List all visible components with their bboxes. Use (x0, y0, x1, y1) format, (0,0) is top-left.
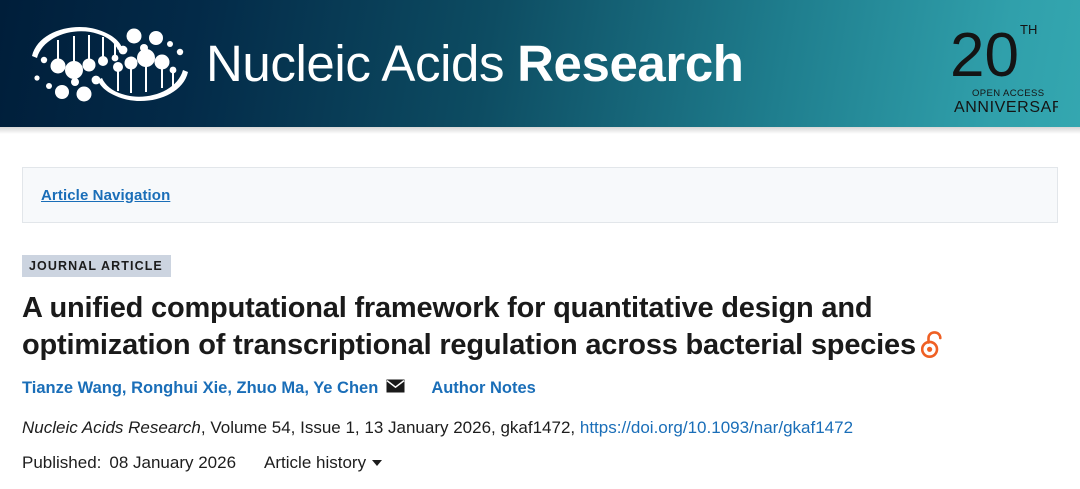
dna-helix-logo[interactable] (22, 14, 198, 114)
article-history-toggle[interactable]: Article history (264, 453, 382, 473)
citation-line: Nucleic Acids Research, Volume 54, Issue… (22, 418, 1058, 438)
doi-link[interactable]: https://doi.org/10.1093/nar/gkaf1472 (580, 418, 853, 437)
page-title: A unified computational framework for qu… (22, 290, 1032, 368)
journal-masthead: Nucleic Acids Research 20 TH OPEN ACCESS… (0, 0, 1080, 127)
anniversary-line2: ANNIVERSARY (954, 99, 1058, 116)
anniversary-ordinal: TH (1020, 22, 1037, 37)
article-navigation-link[interactable]: Article Navigation (41, 187, 170, 204)
published-line: Published: 08 January 2026 Article histo… (22, 453, 1058, 473)
article-page: Article Navigation JOURNAL ARTICLE A uni… (0, 167, 1080, 473)
authors-line: Tianze Wang, Ronghui Xie, Zhuo Ma, Ye Ch… (22, 379, 1058, 398)
journal-wordmark[interactable]: Nucleic Acids Research (206, 38, 744, 89)
article-type-badge: JOURNAL ARTICLE (22, 255, 171, 277)
wordmark-light: Nucleic Acids (206, 38, 504, 89)
wordmark-bold: Research (517, 38, 743, 89)
anniversary-line1: OPEN ACCESS (972, 88, 1045, 99)
citation-details: , Volume 54, Issue 1, 13 January 2026, g… (201, 418, 580, 437)
author-notes-link[interactable]: Author Notes (431, 379, 536, 398)
published-label: Published: (22, 453, 101, 473)
envelope-icon[interactable] (386, 379, 405, 398)
anniversary-badge-icon: 20 TH OPEN ACCESS ANNIVERSARY (946, 8, 1058, 120)
article-navigation-box[interactable]: Article Navigation (22, 167, 1058, 223)
citation-journal-name: Nucleic Acids Research (22, 418, 201, 437)
article-title-text: A unified computational framework for qu… (22, 292, 916, 361)
author-list-link[interactable]: Tianze Wang, Ronghui Xie, Zhuo Ma, Ye Ch… (22, 379, 378, 398)
masthead-shadow (0, 127, 1080, 134)
article-history-label: Article history (264, 453, 366, 473)
open-access-unlock-icon (921, 331, 944, 368)
published-date: 08 January 2026 (109, 453, 236, 473)
anniversary-number: 20 (950, 21, 1019, 90)
chevron-down-icon (372, 460, 382, 466)
